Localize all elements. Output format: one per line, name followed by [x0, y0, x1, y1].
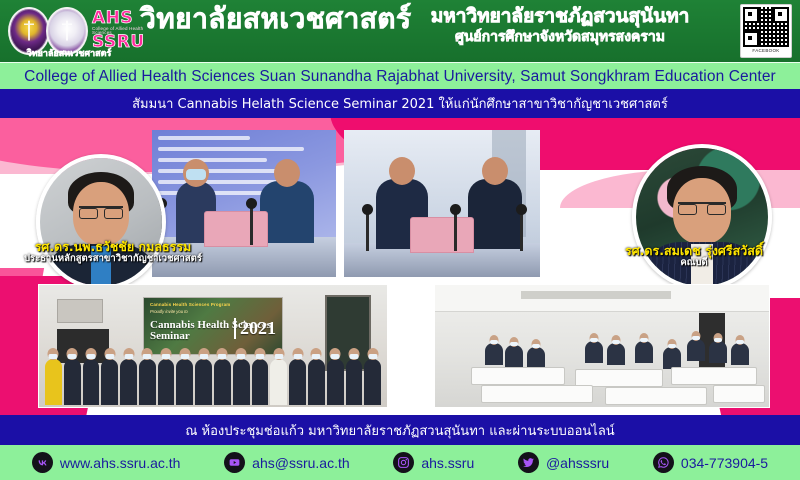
facebook-qr-block[interactable]: FACEBOOK: [740, 4, 792, 58]
seminar-title-bar: สัมมนา Cannabis Helath Science Seminar 2…: [0, 89, 800, 120]
footer-item-instagram[interactable]: ahs.ssru: [393, 452, 474, 473]
whatsapp-icon[interactable]: [653, 452, 674, 473]
qr-label: FACEBOOK: [743, 47, 789, 55]
university-name: มหาวิทยาลัยราชภัฏสวนสุนันทา: [415, 5, 705, 28]
youtube-icon[interactable]: [224, 452, 245, 473]
photo-two-speakers: [344, 130, 540, 277]
venue-text: ณ ห้องประชุมช่อแก้ว มหาวิทยาลัยราชภัฏสวน…: [185, 420, 614, 441]
photo-collage: รศ.ดร.นพ.ธวัชชัย กมลธรรม ประธานหลักสูตรส…: [0, 118, 800, 415]
footer-text[interactable]: ahs@ssru.ac.th: [252, 455, 349, 471]
twitter-icon[interactable]: [518, 452, 539, 473]
caption-program-chair: รศ.ดร.นพ.ธวัชชัย กมลธรรม ประธานหลักสูตรส…: [0, 240, 228, 265]
footer-item-website[interactable]: www.ahs.ssru.ac.th: [32, 452, 181, 473]
person-role: คณบดี: [584, 258, 800, 269]
backdrop-line-1: Cannabis Health Sciences Program: [150, 302, 230, 307]
vk-icon[interactable]: [32, 452, 53, 473]
footer-item-twitter[interactable]: @ahsssru: [518, 452, 609, 473]
college-thai-title: วิทยาลัยสหเวชศาสตร์: [140, 4, 415, 33]
university-name-block: มหาวิทยาลัยราชภัฏสวนสุนันทา ศูนย์การศึกษ…: [415, 5, 705, 46]
seminar-title-text: สัมมนา Cannabis Helath Science Seminar 2…: [132, 93, 668, 114]
qr-code-icon[interactable]: [743, 7, 789, 47]
footer-text[interactable]: @ahsssru: [546, 455, 609, 471]
logo-thai-caption: วิทยาลัยสหเวชศาสตร์: [10, 46, 128, 60]
poster-root: AHS College of Allied Health Sciences SS…: [0, 0, 800, 480]
backdrop-year: 2021: [234, 318, 276, 339]
backdrop-line-2: Proudly invite you to: [150, 309, 188, 314]
person-role: ประธานหลักสูตรสาขาวิชากัญชาเวชศาสตร์: [0, 254, 228, 265]
portrait-program-chair: [36, 154, 166, 290]
instagram-icon[interactable]: [393, 452, 414, 473]
wordmark-line-1: AHS: [92, 11, 145, 27]
english-title-banner: College of Allied Health Sciences Suan S…: [0, 62, 800, 90]
footer-text[interactable]: www.ahs.ssru.ac.th: [60, 455, 181, 471]
education-center-name: ศูนย์การศึกษาจังหวัดสมุทรสงคราม: [415, 29, 705, 46]
footer-text[interactable]: 034-773904-5: [681, 455, 768, 471]
photo-audience-classroom: [434, 284, 770, 408]
footer-text[interactable]: ahs.ssru: [421, 455, 474, 471]
group-photo-people: [45, 353, 381, 405]
venue-bar: ณ ห้องประชุมช่อแก้ว มหาวิทยาลัยราชภัฏสวน…: [0, 415, 800, 446]
photo-group-seminar: Cannabis Health Sciences Program Proudly…: [38, 284, 388, 408]
footer-contact-bar: www.ahs.ssru.ac.th ahs@ssru.ac.th ahs.ss…: [0, 445, 800, 480]
footer-item-phone[interactable]: 034-773904-5: [653, 452, 768, 473]
ahs-ssru-wordmark: AHS College of Allied Health Sciences SS…: [92, 11, 145, 51]
caption-dean: รศ.ดร.สมเดช รุ่งศรีสวัสดิ์ คณบดี: [584, 244, 800, 269]
seminar-backdrop-screen: Cannabis Health Sciences Program Proudly…: [143, 297, 283, 355]
footer-item-email[interactable]: ahs@ssru.ac.th: [224, 452, 349, 473]
english-title-text: College of Allied Health Sciences Suan S…: [24, 68, 776, 86]
header-bar: AHS College of Allied Health Sciences SS…: [0, 0, 800, 62]
